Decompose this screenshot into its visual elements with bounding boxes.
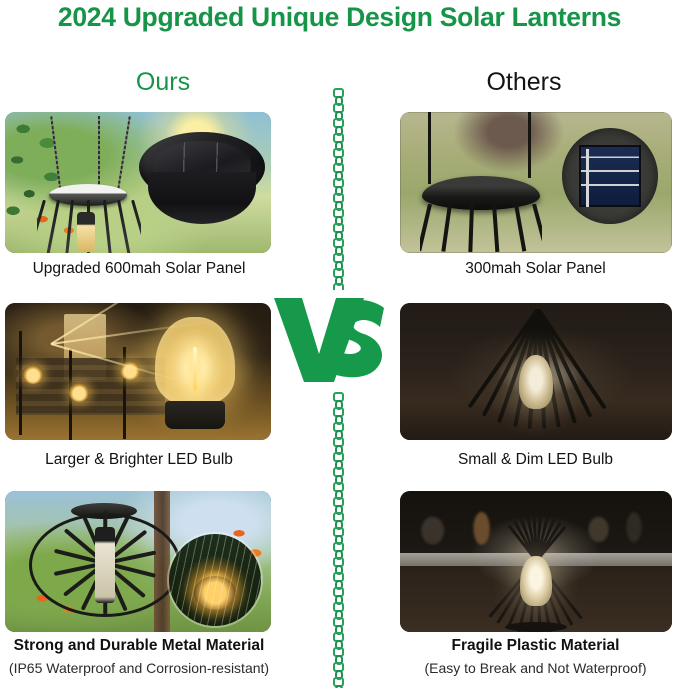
ours-caption-row-1: Upgraded 600mah Solar Panel <box>0 260 278 278</box>
chain-divider-top <box>331 88 346 290</box>
others-image-row-1 <box>400 112 672 253</box>
large-solar-panel-icon <box>139 132 265 228</box>
chain-divider-bottom <box>331 392 346 688</box>
plastic-lantern-icon <box>477 516 595 632</box>
lantern-pole <box>528 112 531 178</box>
column-header-ours: Ours <box>63 68 263 97</box>
rain-test-inset-photo <box>169 534 261 626</box>
small-dim-bulb-icon <box>519 355 553 409</box>
ours-caption-row-2: Larger & Brighter LED Bulb <box>0 451 278 469</box>
mini-lantern-glow <box>69 383 89 402</box>
infographic-page: 2024 Upgraded Unique Design Solar Lanter… <box>0 0 679 692</box>
lantern-bulb <box>77 212 95 252</box>
large-led-bulb-icon <box>151 317 239 427</box>
ours-image-row-1 <box>5 112 271 253</box>
others-image-row-2 <box>400 303 672 440</box>
others-subcaption-row-3: (Easy to Break and Not Waterproof) <box>392 660 679 676</box>
shepherd-hook-icon <box>19 331 22 435</box>
others-image-row-3 <box>400 491 672 632</box>
others-caption-row-2: Small & Dim LED Bulb <box>392 451 679 469</box>
lantern-pole <box>428 112 431 184</box>
column-header-others: Others <box>424 68 624 97</box>
ours-image-row-2 <box>5 303 271 440</box>
small-solar-cell-inset <box>562 128 658 224</box>
hanging-chain-icon <box>98 116 100 192</box>
ours-subcaption-row-3: (IP65 Waterproof and Corrosion-resistant… <box>0 660 278 676</box>
metal-cage-lantern-icon <box>23 503 187 621</box>
ours-image-row-3 <box>5 491 271 632</box>
lantern-cage <box>420 204 542 252</box>
page-title: 2024 Upgraded Unique Design Solar Lanter… <box>0 2 679 33</box>
mini-lantern-glow <box>23 365 43 384</box>
others-caption-row-3: Fragile Plastic Material <box>392 637 679 655</box>
others-caption-row-1: 300mah Solar Panel <box>392 260 679 278</box>
vs-badge <box>272 292 390 384</box>
ours-caption-row-3: Strong and Durable Metal Material <box>0 637 278 655</box>
